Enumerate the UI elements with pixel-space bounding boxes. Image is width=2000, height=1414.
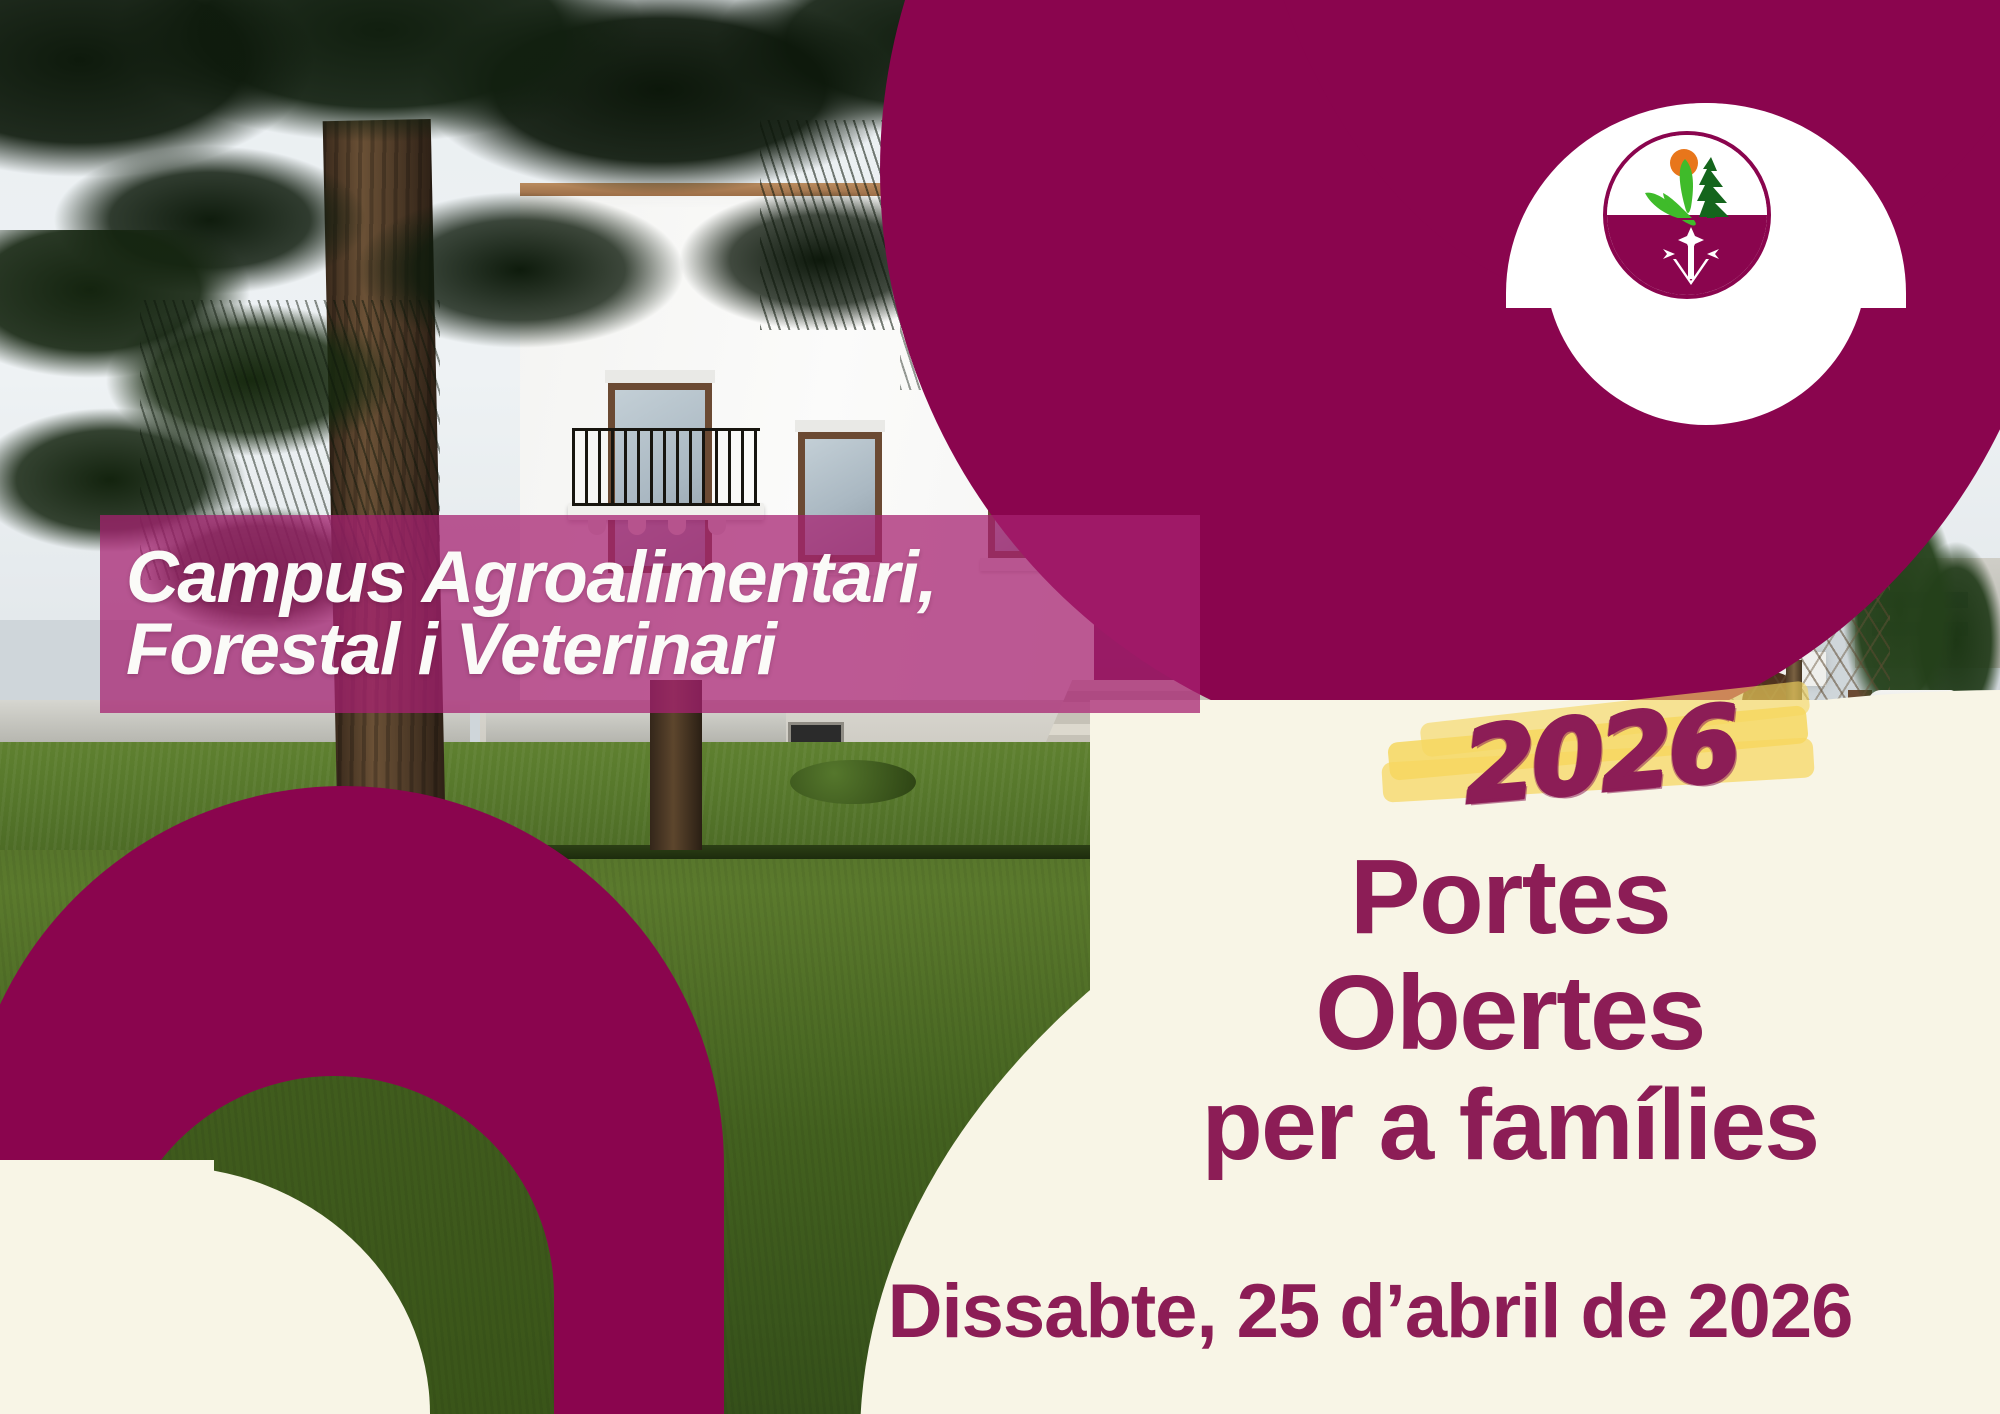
campus-title-banner: Campus Agroalimentari, Forestal i Veteri… bbox=[100, 515, 1200, 713]
campus-title-line-1: Campus Agroalimentari, bbox=[126, 542, 1200, 614]
campus-title-line-2: Forestal i Veterinari bbox=[126, 614, 1200, 686]
headline-line-2: Obertes bbox=[1040, 956, 1980, 1072]
year-badge-label: 2026 bbox=[1375, 671, 1825, 839]
logo-artwork bbox=[1607, 135, 1771, 299]
udl-campus-logo bbox=[1603, 131, 1771, 299]
university-emblem-icon bbox=[1663, 227, 1719, 285]
headline-line-1: Portes bbox=[1040, 840, 1980, 956]
balcony-railing bbox=[572, 428, 760, 506]
leaf-icon bbox=[1645, 159, 1696, 226]
pine-tree-icon bbox=[1697, 157, 1729, 219]
window-lintel bbox=[795, 420, 885, 432]
poster-root: Campus Agroalimentari, Forestal i Veteri… bbox=[0, 0, 2000, 1414]
year-badge: 2026 bbox=[1380, 690, 1820, 820]
event-date: Dissabte, 25 d’abril de 2026 bbox=[760, 1268, 1980, 1355]
hedge-bush bbox=[790, 760, 916, 804]
event-headline: Portes Obertes per a famílies bbox=[1040, 840, 1980, 1180]
headline-line-3: per a famílies bbox=[1040, 1071, 1980, 1180]
cream-bottom-left-fill bbox=[0, 1160, 214, 1414]
